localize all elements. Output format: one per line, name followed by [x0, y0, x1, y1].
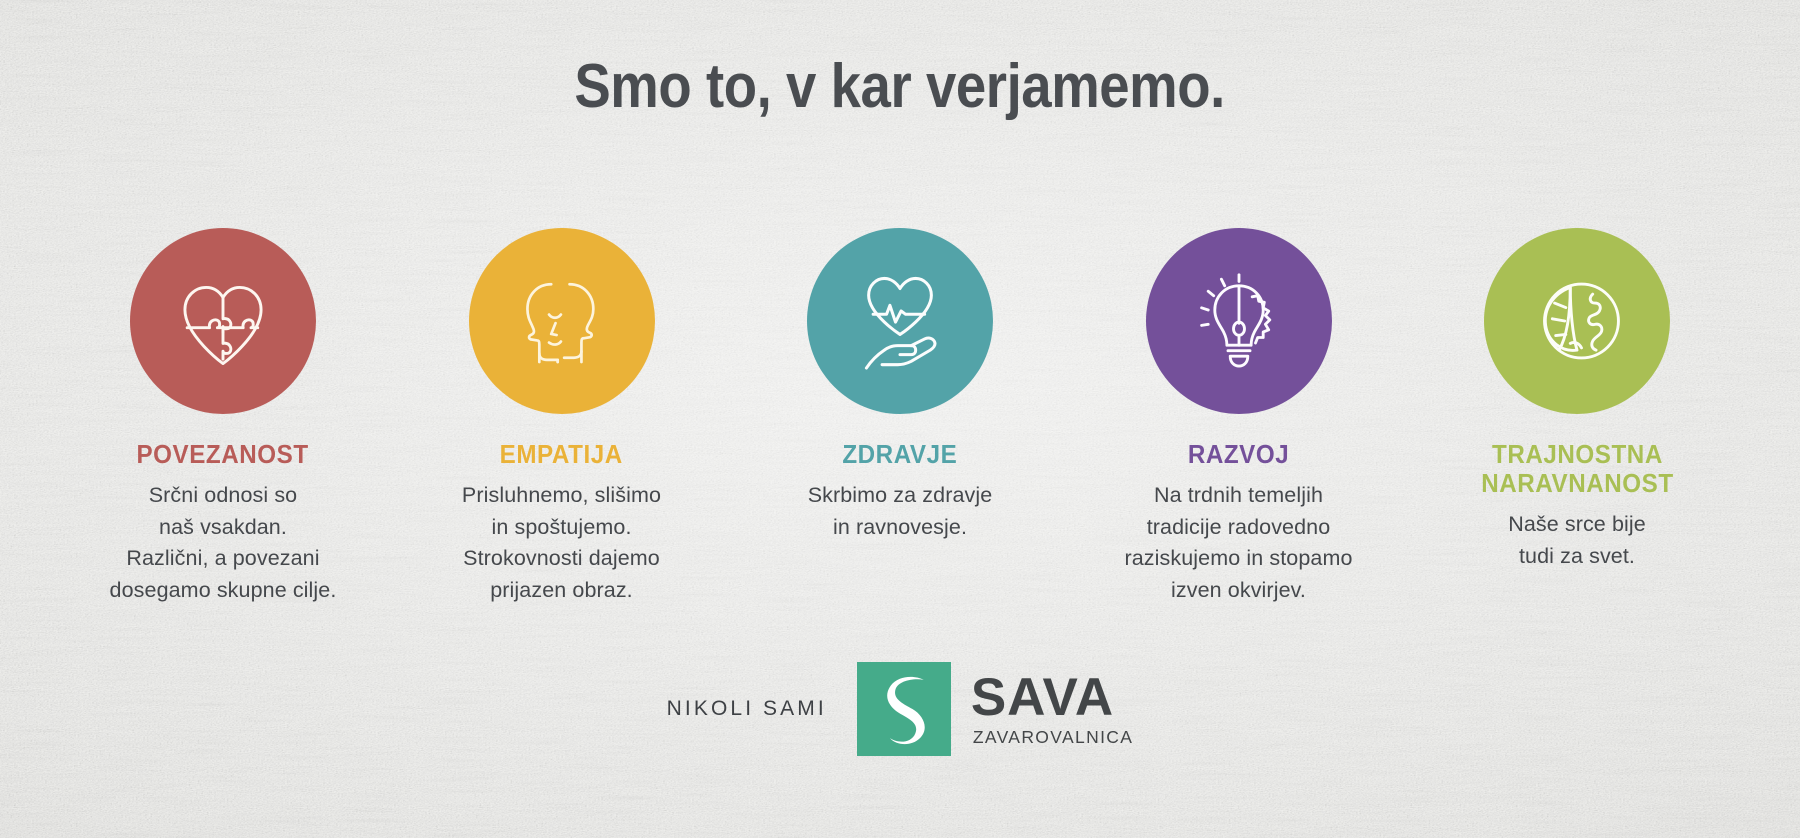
- brand-name: SAVA: [971, 671, 1114, 724]
- value-body-razvoj: Na trdnih temeljih tradicije radovedno r…: [1124, 480, 1352, 606]
- value-column-empatija: EMPATIJA Prisluhnemo, slišimo in spoštuj…: [403, 228, 721, 606]
- value-icon-circle-povezanost: [130, 228, 316, 414]
- value-body-zdravje: Skrbimo za zdravje in ravnovesje.: [808, 480, 993, 543]
- tagline-nikoli-sami: NIKOLI SAMI: [667, 697, 827, 721]
- sava-logo-mark: [857, 662, 951, 756]
- value-icon-circle-razvoj: [1146, 228, 1332, 414]
- values-row: POVEZANOST Srčni odnosi so naš vsakdan. …: [64, 228, 1736, 606]
- puzzle-heart-icon: [167, 265, 279, 377]
- value-label-razvoj: RAZVOJ: [1188, 440, 1289, 469]
- value-label-trajnostna-naravnanost: TRAJNOSTNA NARAVNANOST: [1481, 440, 1673, 498]
- value-label-empatija: EMPATIJA: [500, 440, 623, 469]
- value-body-empatija: Prisluhnemo, slišimo in spoštujemo. Stro…: [462, 480, 661, 606]
- brand-subtitle: ZAVAROVALNICA: [973, 729, 1134, 747]
- sava-wordmark: SAVA ZAVAROVALNICA: [971, 671, 1134, 747]
- page-title: Smo to, v kar verjamemo.: [575, 54, 1226, 119]
- value-label-zdravje: ZDRAVJE: [843, 440, 958, 469]
- lightbulb-gear-icon: [1184, 266, 1294, 376]
- leaf-globe-icon: [1521, 265, 1633, 377]
- value-icon-circle-empatija: [469, 228, 655, 414]
- value-column-trajnostna-naravnanost: TRAJNOSTNA NARAVNANOST Naše srce bije tu…: [1418, 228, 1736, 572]
- value-column-zdravje: ZDRAVJE Skrbimo za zdravje in ravnovesje…: [741, 228, 1059, 543]
- infographic-poster: Smo to, v kar verjamemo. POVEZANOST Srčn…: [0, 0, 1800, 838]
- value-icon-circle-zdravje: [807, 228, 993, 414]
- value-body-povezanost: Srčni odnosi so naš vsakdan. Različni, a…: [110, 480, 337, 606]
- value-label-povezanost: POVEZANOST: [137, 440, 309, 469]
- footer-logo-lockup: NIKOLI SAMI SAVA ZAVAROVALNICA: [0, 662, 1800, 756]
- value-column-povezanost: POVEZANOST Srčni odnosi so naš vsakdan. …: [64, 228, 382, 606]
- two-face-profiles-icon: [508, 267, 616, 375]
- title-block: Smo to, v kar verjamemo.: [0, 54, 1800, 119]
- heart-heartbeat-hand-icon: [844, 265, 956, 377]
- value-body-trajnostna-naravnanost: Naše srce bije tudi za svet.: [1508, 509, 1646, 572]
- value-column-razvoj: RAZVOJ Na trdnih temeljih tradicije rado…: [1080, 228, 1398, 606]
- sava-s-mark-icon: [857, 662, 951, 756]
- value-icon-circle-trajnostna: [1484, 228, 1670, 414]
